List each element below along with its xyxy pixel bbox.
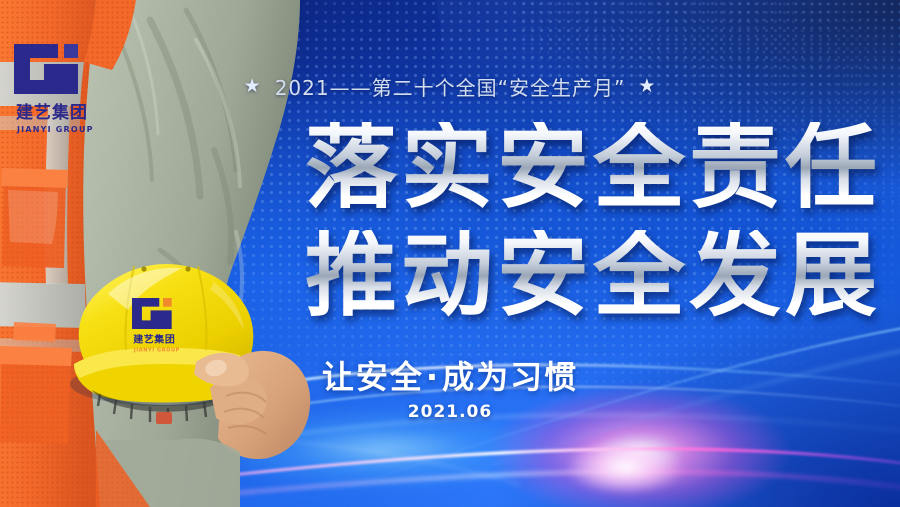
star-left-icon: ★ bbox=[244, 77, 262, 96]
svg-text:建艺集团: 建艺集团 bbox=[16, 102, 88, 123]
svg-text:建艺集团: 建艺集团 bbox=[132, 333, 175, 346]
safety-production-month-poster: 建艺集团 JIANYI GROUP bbox=[0, 0, 900, 507]
subtitle-part-2: 成为习惯 bbox=[442, 358, 578, 396]
kicker-text: 2021——第二十个全国“安全生产月” bbox=[275, 72, 626, 101]
kicker-line: ★ 2021——第二十个全国“安全生产月” ★ bbox=[0, 72, 900, 101]
star-right-icon: ★ bbox=[638, 77, 656, 96]
date-stamp: 2021.06 bbox=[0, 402, 900, 422]
headline-line-2: 推动安全发展 bbox=[305, 230, 880, 322]
pink-glow-core bbox=[540, 427, 710, 507]
headline-line-1: 落实安全责任 bbox=[305, 122, 880, 214]
subtitle-line: 让安全·成为习惯 bbox=[0, 352, 900, 398]
subtitle-part-1: 让安全 bbox=[322, 358, 424, 396]
svg-text:JIANYI GROUP: JIANYI GROUP bbox=[16, 125, 94, 134]
subtitle-separator: · bbox=[426, 358, 440, 396]
